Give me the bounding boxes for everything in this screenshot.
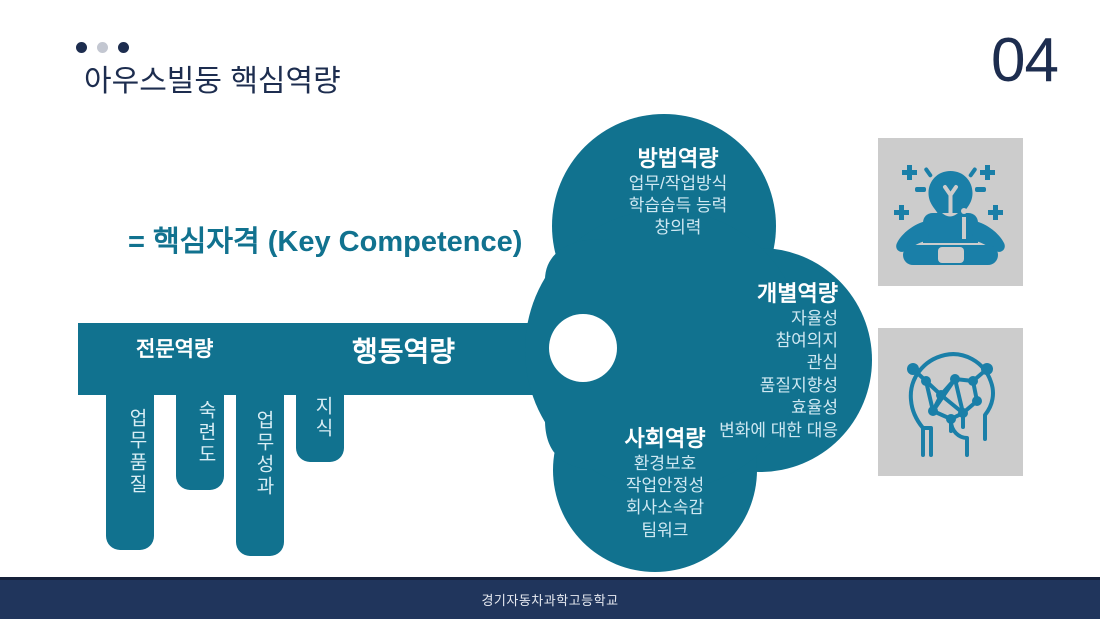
footer-text: 경기자동차과학고등학교 bbox=[481, 590, 618, 609]
key-diagram-graphic bbox=[0, 0, 1100, 619]
footer-bar: 경기자동차과학고등학교 bbox=[0, 577, 1100, 619]
icon-card-brain bbox=[878, 328, 1023, 476]
key-shaft bbox=[78, 323, 560, 395]
key-competence-caption: = 핵심자격 (Key Competence) bbox=[128, 218, 522, 260]
key-bow-inner bbox=[545, 239, 700, 470]
meditating-lightbulb-person-icon bbox=[893, 153, 1008, 271]
icon-card-idea bbox=[878, 138, 1023, 286]
slide: 아우스빌둥 핵심역량 04 = 핵심자격 bbox=[0, 0, 1100, 619]
ai-brain-head-icon bbox=[893, 343, 1008, 461]
